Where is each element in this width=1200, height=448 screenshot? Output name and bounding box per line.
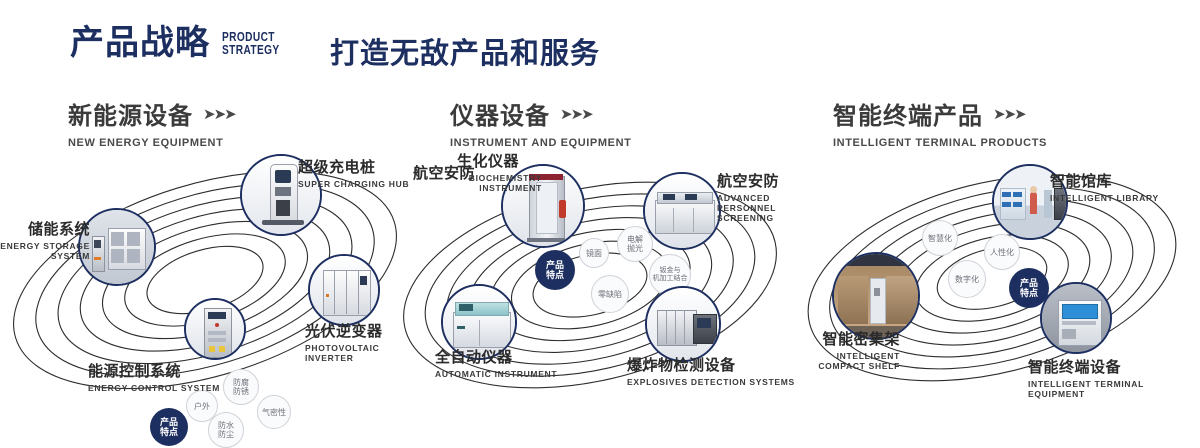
chevrons-right-icon: ➤➤➤ (560, 105, 592, 123)
core-label-line2: 特点 (1020, 288, 1038, 298)
core-label-line2: 特点 (160, 427, 178, 437)
feature-bubble-digitalization: 数字化 (948, 260, 986, 298)
page-header: 产品战略 PRODUCT STRATEGY (70, 26, 296, 60)
feature-bubble-intelligence: 智慧化 (922, 220, 958, 256)
node-intelligent-compact-shelf[interactable] (832, 252, 920, 340)
page-title-en: PRODUCT STRATEGY (222, 30, 280, 56)
node-photovoltaic-inverter[interactable] (308, 254, 380, 326)
node-energy-control-system[interactable] (184, 298, 246, 360)
section-title-instrument: 仪器设备 ➤➤➤ INSTRUMENT AND EQUIPMENT (450, 96, 631, 149)
feature-bubble-airtight: 气密性 (257, 395, 291, 429)
section-title-cn: 新能源设备 (68, 96, 193, 131)
section-title-en: INSTRUMENT AND EQUIPMENT (450, 137, 631, 149)
chevrons-right-icon: ➤➤➤ (993, 105, 1025, 123)
section-title-en: INTELLIGENT TERMINAL PRODUCTS (833, 137, 1047, 149)
section-title-en: NEW ENERGY EQUIPMENT (68, 137, 235, 149)
caption-intelligent-terminal-equipment: 智能终端设备 INTELLIGENT TERMINAL EQUIPMENT (1028, 356, 1200, 399)
caption-intelligent-compact-shelf: 智能密集架 INTELLIGENT COMPACT SHELF (790, 328, 900, 371)
node-explosives-detection-systems[interactable] (645, 286, 721, 362)
page-title-cn: 产品战略 (70, 26, 210, 60)
product-strategy-infographic: 产品战略 PRODUCT STRATEGY 打造无敌产品和服务 新能源设备 ➤➤… (0, 0, 1200, 422)
chevrons-right-icon: ➤➤➤ (203, 105, 235, 123)
section-title-new-energy: 新能源设备 ➤➤➤ NEW ENERGY EQUIPMENT (68, 96, 235, 149)
section-title-cn: 智能终端产品 (833, 96, 983, 131)
feature-bubble-anticorrosion: 防腐 防锈 (223, 369, 259, 405)
feature-bubble-humanization: 人性化 (984, 234, 1020, 270)
cluster-instrument: 产品 特点 镜面 电解 抛光 零缺陷 钣金与 机加工结合 (395, 150, 810, 410)
cluster-new-energy: 产品 特点 户外 防腐 防锈 防水 防尘 气密性 (0, 150, 420, 410)
section-title-cn: 仪器设备 (450, 96, 550, 131)
feature-bubble-waterproof: 防水 防尘 (208, 412, 244, 448)
feature-bubble-zero-defect: 零缺陷 (591, 275, 629, 313)
core-label-line1: 产品 (160, 417, 178, 427)
caption-energy-storage-system: 储能系统 ENERGY STORAGE SYSTEM (0, 218, 90, 261)
caption-energy-control-system: 能源控制系统 ENERGY CONTROL SYSTEM (88, 360, 220, 393)
core-badge-product-features: 产品 特点 (535, 250, 575, 290)
caption-explosives-detection-systems: 爆炸物检测设备 EXPLOSIVES DETECTION SYSTEMS (627, 354, 795, 387)
cluster-intelligent-terminal: 产品 特点 智慧化 数字化 人性化 (800, 150, 1200, 410)
core-badge-product-features: 产品 特点 (150, 408, 188, 446)
node-intelligent-terminal-equipment[interactable] (1040, 282, 1112, 354)
caption-biochemistry-instrument: 生化仪器 BIOCHEMISTRY INSTRUMENT (457, 150, 542, 193)
caption-advanced-personnel-screening: 航空安防 ADVANCED PERSONNEL SCREENING (717, 170, 809, 223)
core-label-line1: 产品 (546, 260, 564, 270)
caption-automatic-instrument: 全自动仪器 AUTOMATIC INSTRUMENT (435, 346, 557, 379)
feature-bubble-mirror-finish: 镜面 (579, 238, 609, 268)
core-label-line2: 特点 (546, 270, 564, 280)
section-title-intelligent-terminal: 智能终端产品 ➤➤➤ INTELLIGENT TERMINAL PRODUCTS (833, 96, 1047, 149)
caption-intelligent-library: 智能馆库 INTELLIGENT LIBRARY (1050, 170, 1159, 203)
core-label-line1: 产品 (1020, 278, 1038, 288)
page-subtitle: 打造无敌产品和服务 (330, 30, 600, 72)
node-advanced-personnel-screening[interactable] (643, 172, 721, 250)
page-title-en-line2: STRATEGY (222, 43, 280, 56)
